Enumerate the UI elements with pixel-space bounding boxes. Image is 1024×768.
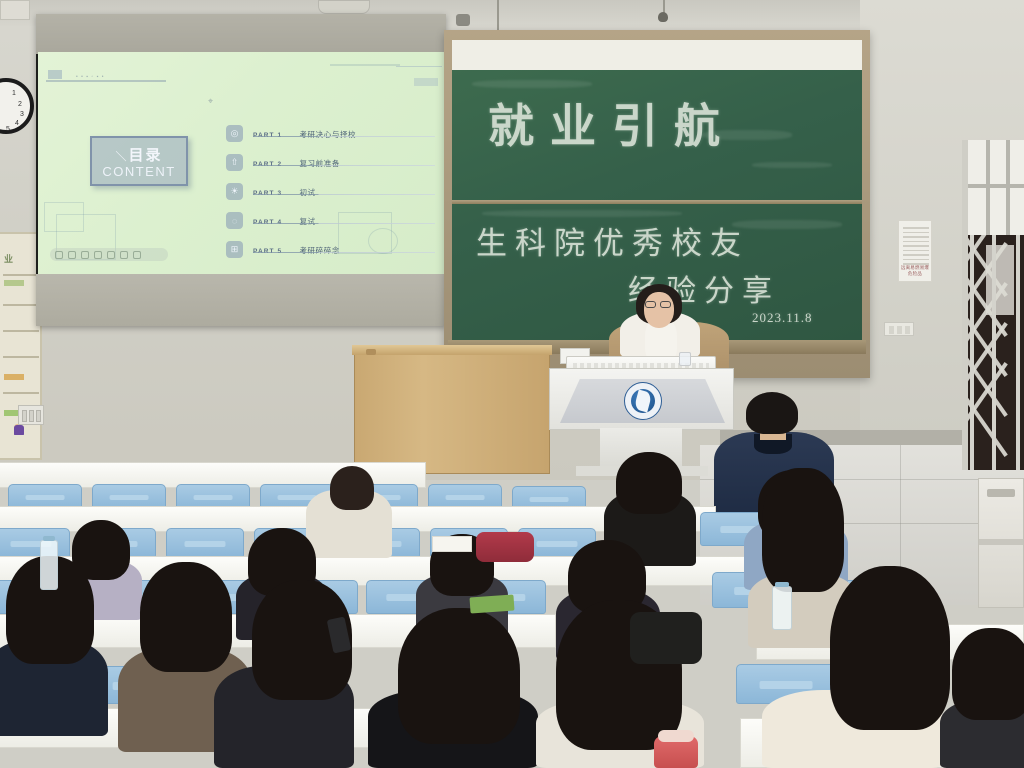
projector-mount	[456, 14, 470, 26]
toc-item-title: 复习前准备	[299, 159, 340, 168]
ppt-cursor-icon: ⌖	[208, 96, 213, 107]
ppt-toolbar-line	[46, 80, 166, 82]
slide-content-badge: ＼目录 CONTENT	[90, 136, 188, 186]
lectern-knob	[366, 349, 376, 355]
highlighter-icon[interactable]	[81, 251, 89, 259]
slide-badge-cn: ＼目录	[115, 144, 162, 165]
ceiling-speaker	[318, 0, 370, 14]
toc-item: ⊞ PART 5 考研碎碎念	[226, 240, 432, 269]
screen-bottom-band	[36, 274, 446, 326]
lectern-top	[352, 345, 552, 355]
clock-number-2: 2	[18, 101, 22, 108]
blackboard-divider	[452, 200, 862, 204]
water-bottle	[40, 540, 58, 590]
toc-item-title: 复试	[299, 217, 315, 226]
university-crest-icon	[624, 382, 662, 420]
blackboard-white-strip	[452, 40, 862, 70]
toc-item-title: 初试	[299, 188, 315, 197]
clock-number-3: 3	[20, 111, 24, 118]
shoulder-bag	[630, 612, 702, 664]
side-cabinet	[978, 478, 1024, 608]
blackboard-line-2: 生科院优秀校友	[476, 218, 749, 263]
wooden-lectern	[354, 348, 550, 474]
chat-icon: ◌	[226, 212, 243, 229]
seat	[166, 528, 244, 558]
notebook	[469, 594, 514, 613]
power-outlet[interactable]	[884, 322, 914, 336]
screen-icon[interactable]	[107, 251, 115, 259]
ppt-right-mark	[414, 78, 438, 86]
slides-icon[interactable]	[94, 251, 102, 259]
toc-item-title: 考研碎碎念	[299, 246, 340, 255]
ppt-right-rule	[396, 66, 442, 67]
toc-rule	[253, 136, 435, 137]
presentation-slide: • • ▪ ▫ ▪ • ⌖ ＼目录 CONTENT ◎ PART 1	[38, 52, 444, 274]
podium-front-panel	[560, 379, 725, 423]
blackboard-date: 2023.11.8	[752, 310, 813, 326]
door-window	[968, 140, 1024, 235]
toc-item-title: 考研决心与择校	[299, 130, 356, 139]
ppt-faint-text: • • ▪ ▫ ▪ •	[76, 74, 105, 80]
toc-rule	[253, 252, 435, 253]
slide-toc-list: ◎ PART 1 考研决心与择校 ⇧ PART 2 复习前准备	[226, 124, 432, 269]
backpack	[476, 532, 534, 562]
hanging-bulb-2	[658, 12, 668, 22]
toc-item: ◌ PART 4 复试	[226, 211, 432, 240]
blackboard-title: 就业引航	[488, 90, 736, 156]
speaker-glasses	[645, 301, 673, 309]
seat	[0, 528, 70, 558]
toc-rule	[253, 223, 435, 224]
clock-number-5: 5	[6, 126, 10, 133]
slide-badge-en: CONTENT	[102, 164, 175, 179]
clock-number-1: 1	[12, 90, 16, 97]
pen-icon[interactable]	[68, 251, 76, 259]
podium	[549, 368, 734, 430]
rocket-icon: ⇧	[226, 154, 243, 171]
drinking-cup	[679, 352, 691, 366]
guest-hair	[746, 392, 798, 434]
presentation-toolbar[interactable]	[50, 248, 168, 261]
wall-mounted-box	[0, 0, 30, 20]
target-icon: ◎	[226, 125, 243, 142]
notice-board-figure	[14, 424, 24, 448]
screen-top-band	[36, 14, 446, 54]
speaker-face	[644, 292, 674, 328]
thermos-bottle	[654, 736, 698, 768]
wall-sign-caption-2: 危险品	[899, 271, 931, 278]
note-icon: ⊞	[226, 241, 243, 258]
toc-item: ◎ PART 1 考研决心与择校	[226, 124, 432, 153]
water-bottle	[772, 586, 792, 630]
more-icon[interactable]	[133, 251, 141, 259]
wall-safety-sign: 远离易燃易爆 危险品	[898, 220, 932, 282]
security-gate[interactable]	[968, 235, 1024, 470]
toc-rule	[253, 165, 435, 166]
zoom-icon[interactable]	[120, 251, 128, 259]
ppt-chip-icon	[48, 70, 62, 79]
lecture-hall-scene: 1 2 3 4 5 业 • • ▪ ▫ ▪ • ⌖	[0, 0, 1024, 768]
paper-sheet	[432, 536, 472, 552]
lightbulb-icon: ☀	[226, 183, 243, 200]
pointer-icon[interactable]	[55, 251, 63, 259]
toc-item: ☀ PART 3 初试	[226, 182, 432, 211]
notice-board-title: 业	[4, 252, 14, 265]
toc-item: ⇧ PART 2 复习前准备	[226, 153, 432, 182]
doorway	[962, 140, 1024, 470]
projection-screen: • • ▪ ▫ ▪ • ⌖ ＼目录 CONTENT ◎ PART 1	[36, 14, 446, 326]
light-switch-plate[interactable]	[18, 405, 44, 425]
clock-number-4: 4	[15, 120, 19, 127]
toc-rule	[253, 194, 435, 195]
